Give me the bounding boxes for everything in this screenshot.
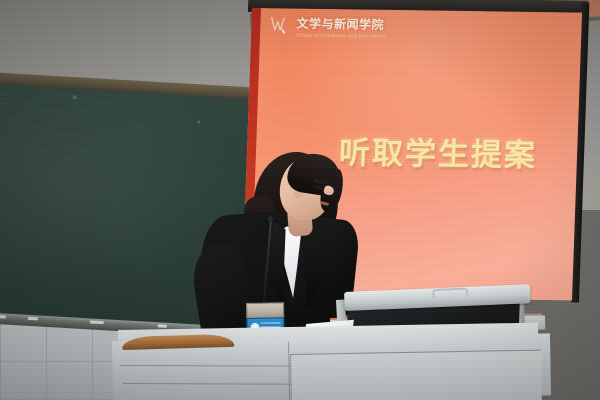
slide-logo-text-en: School of Literature and Journalism [296, 34, 386, 40]
chalk-piece [0, 315, 6, 319]
monitor-lid-handle[interactable] [432, 287, 468, 297]
chalk-smudge [0, 103, 1, 105]
chalk-smudge [73, 95, 77, 99]
chalk-smudge [197, 120, 200, 123]
podium-front-panel [290, 350, 542, 400]
microphone-head-icon [268, 216, 273, 222]
slide-logo: 文学与新闻学院 School of Literature and Journal… [269, 14, 386, 40]
slide-title: 听取学生提案 [338, 127, 538, 175]
slide-logo-text-cn: 文学与新闻学院 [296, 15, 386, 33]
chalk-piece [90, 320, 104, 324]
podium-seam [120, 365, 296, 367]
podium-seam [123, 383, 295, 385]
chalk-piece [158, 324, 167, 328]
chalk-piece [28, 317, 38, 321]
chalk-smudge [142, 185, 145, 187]
classroom-photo-scene: 文学与新闻学院 School of Literature and Journal… [0, 0, 600, 400]
university-w-mark-icon [269, 15, 292, 35]
